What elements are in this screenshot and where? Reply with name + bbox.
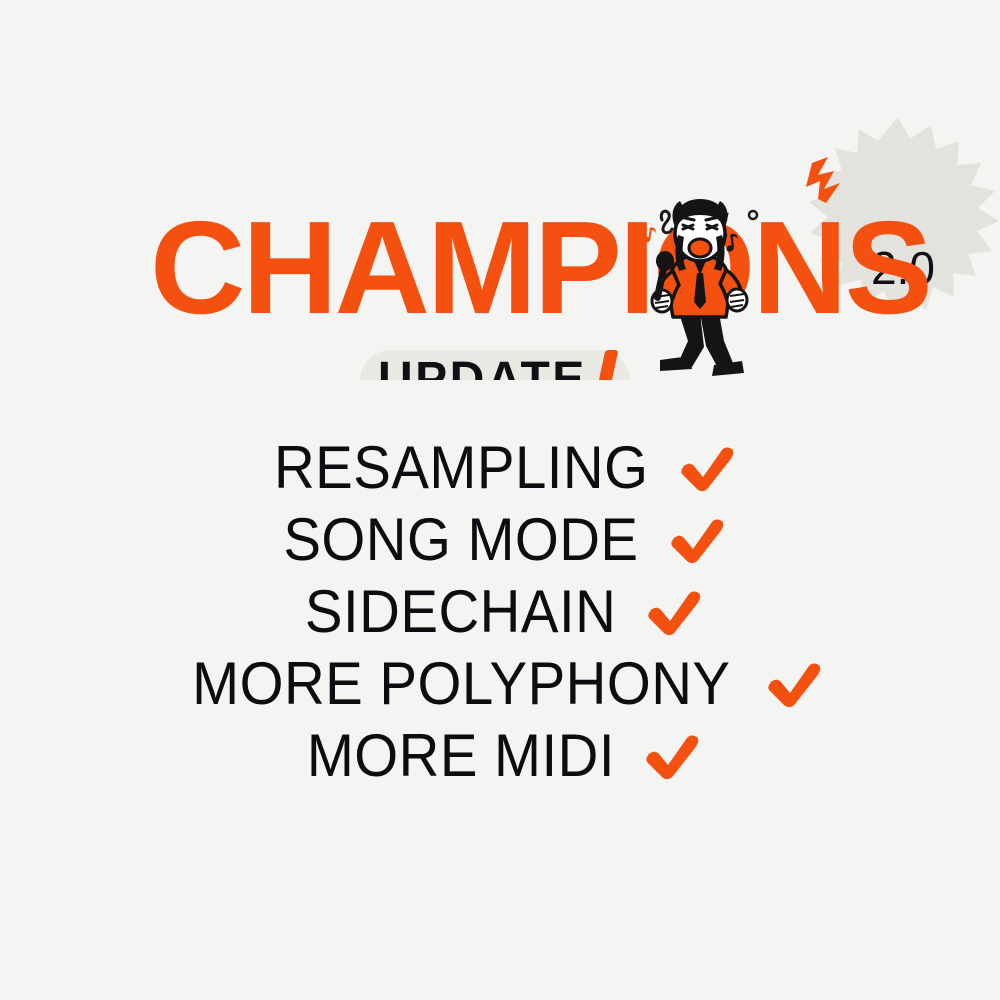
check-icon <box>676 442 738 494</box>
check-icon <box>666 514 728 566</box>
feature-label: SONG MODE <box>283 510 638 570</box>
mascot-head <box>673 199 728 271</box>
feature-label: MORE MIDI <box>307 726 615 786</box>
update-badge-label: UPDATE <box>378 353 587 380</box>
check-icon <box>641 730 703 782</box>
title-text: CHAMPIONS <box>150 194 930 341</box>
hero-artwork: 2.0 CHAMPIONS UPDATE <box>0 95 1000 380</box>
list-item: MORE POLYPHONY <box>0 648 1000 720</box>
feature-label: SIDECHAIN <box>305 582 616 642</box>
list-item: SIDECHAIN <box>0 576 1000 648</box>
check-icon <box>763 658 825 710</box>
list-item: MORE MIDI <box>0 720 1000 792</box>
feature-label: MORE POLYPHONY <box>192 654 730 714</box>
list-item: SONG MODE <box>0 504 1000 576</box>
list-item: RESAMPLING <box>0 432 1000 504</box>
hero-banner: 2.0 CHAMPIONS UPDATE <box>0 95 1000 380</box>
check-icon <box>643 586 705 638</box>
feature-label: RESAMPLING <box>274 438 649 498</box>
feature-list: RESAMPLING SONG MODE SIDECHAIN <box>0 432 1000 792</box>
promo-graphic: 2.0 CHAMPIONS UPDATE <box>0 0 1000 1000</box>
wordmark-title: CHAMPIONS <box>150 194 930 341</box>
update-badge: UPDATE <box>360 350 630 380</box>
